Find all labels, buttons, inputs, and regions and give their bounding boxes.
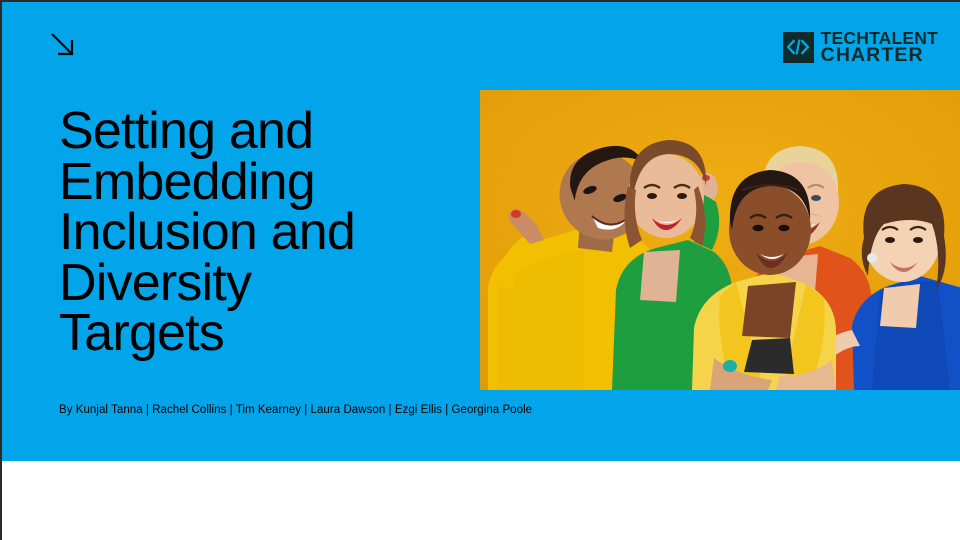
- author-byline: By Kunjal Tanna | Rachel Collins | Tim K…: [59, 404, 532, 416]
- arrow-down-right-icon: [50, 32, 78, 60]
- footer-bar: This resource was made possible thanks t…: [2, 461, 960, 540]
- slide-title: Setting and Embedding Inclusion and Dive…: [59, 106, 459, 359]
- techtalent-charter-logo: TECHTALENT CHARTER: [783, 30, 938, 65]
- presentation-slide: TECHTALENT CHARTER Setting and Embedding…: [0, 0, 960, 540]
- photo-illustration: [480, 90, 960, 390]
- brand-wordmark: TECHTALENT CHARTER: [821, 30, 938, 65]
- hero-photo-group-of-people: [480, 90, 960, 390]
- brand-name-line2: CHARTER: [821, 46, 938, 64]
- code-brackets-icon: [783, 32, 814, 63]
